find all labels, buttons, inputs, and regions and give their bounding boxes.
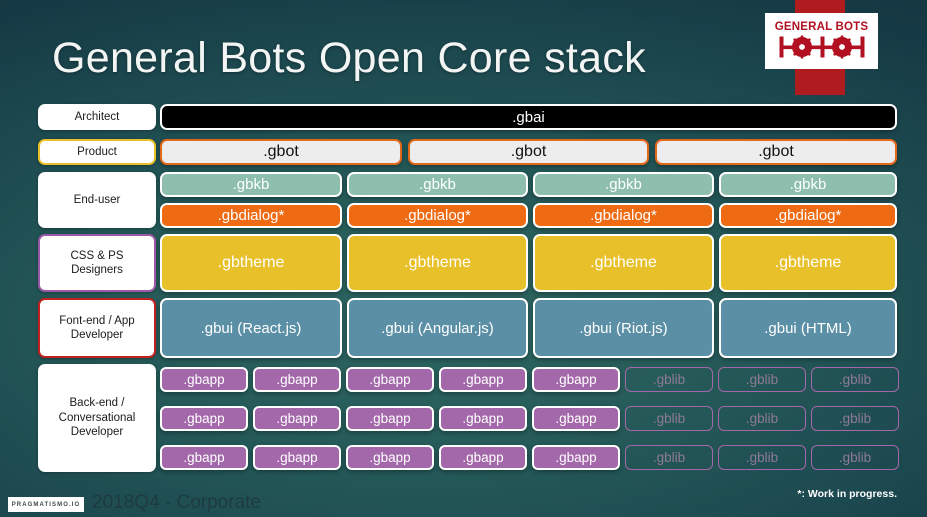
role-label-end-user: End-user bbox=[38, 172, 156, 228]
role-label-designers: CSS & PSDesigners bbox=[38, 234, 156, 292]
layer-box-gblib-r1c7[interactable]: .gblib bbox=[718, 367, 806, 392]
layer-box-gbapp-r1c1[interactable]: .gbapp bbox=[160, 367, 248, 392]
role-label-product: Product bbox=[38, 139, 156, 165]
work-in-progress-note: *: Work in progress. bbox=[797, 488, 897, 500]
pragmatismo-logo: PRAGMATISMO.IO bbox=[8, 497, 84, 512]
layer-box-gbtheme-1[interactable]: .gbtheme bbox=[160, 234, 342, 292]
layer-box-gbui-html[interactable]: .gbui (HTML) bbox=[719, 298, 897, 358]
layer-box-gbtheme-4[interactable]: .gbtheme bbox=[719, 234, 897, 292]
layer-box-gbai[interactable]: .gbai bbox=[160, 104, 897, 130]
layer-box-gbapp-r2c4[interactable]: .gbapp bbox=[439, 406, 527, 431]
layer-box-gbui-riot[interactable]: .gbui (Riot.js) bbox=[533, 298, 714, 358]
slide-canvas: General Bots Open Core stack GENERAL BOT… bbox=[0, 0, 927, 517]
layer-box-gblib-r2c8[interactable]: .gblib bbox=[811, 406, 899, 431]
layer-box-gbtheme-3[interactable]: .gbtheme bbox=[533, 234, 714, 292]
layer-box-gbapp-r1c4[interactable]: .gbapp bbox=[439, 367, 527, 392]
layer-box-gbapp-r3c3[interactable]: .gbapp bbox=[346, 445, 434, 470]
layer-box-gbtheme-2[interactable]: .gbtheme bbox=[347, 234, 528, 292]
layer-box-gbapp-r2c2[interactable]: .gbapp bbox=[253, 406, 341, 431]
general-bots-logo: GENERAL BOTS bbox=[765, 0, 880, 95]
layer-box-gbdialog-4[interactable]: .gbdialog* bbox=[719, 203, 897, 228]
page-title: General Bots Open Core stack bbox=[52, 34, 646, 83]
layer-box-gbapp-r1c5[interactable]: .gbapp bbox=[532, 367, 620, 392]
layer-box-gblib-r3c8[interactable]: .gblib bbox=[811, 445, 899, 470]
pragmatismo-wordmark: PRAGMATISMO.IO bbox=[12, 502, 81, 508]
logo-wordmark: GENERAL BOTS bbox=[775, 22, 869, 34]
layer-box-gbot-1[interactable]: .gbot bbox=[160, 139, 402, 165]
layer-box-gbdialog-1[interactable]: .gbdialog* bbox=[160, 203, 342, 228]
layer-box-gbapp-r2c3[interactable]: .gbapp bbox=[346, 406, 434, 431]
role-label-architect: Architect bbox=[38, 104, 156, 130]
footer-caption: 2018Q4 - Corporate bbox=[92, 492, 261, 514]
layer-box-gblib-r3c6[interactable]: .gblib bbox=[625, 445, 713, 470]
layer-box-gblib-r3c7[interactable]: .gblib bbox=[718, 445, 806, 470]
layer-box-gblib-r1c8[interactable]: .gblib bbox=[811, 367, 899, 392]
layer-box-gbui-react[interactable]: .gbui (React.js) bbox=[160, 298, 342, 358]
layer-box-gbui-angular[interactable]: .gbui (Angular.js) bbox=[347, 298, 528, 358]
layer-box-gbapp-r1c2[interactable]: .gbapp bbox=[253, 367, 341, 392]
layer-box-gblib-r1c6[interactable]: .gblib bbox=[625, 367, 713, 392]
layer-box-gbkb-2[interactable]: .gbkb bbox=[347, 172, 528, 197]
layer-box-gbapp-r2c1[interactable]: .gbapp bbox=[160, 406, 248, 431]
layer-box-gbot-3[interactable]: .gbot bbox=[655, 139, 897, 165]
layer-box-gbapp-r3c2[interactable]: .gbapp bbox=[253, 445, 341, 470]
layer-box-gbkb-4[interactable]: .gbkb bbox=[719, 172, 897, 197]
logo-card: GENERAL BOTS bbox=[765, 13, 878, 69]
layer-box-gbapp-r1c3[interactable]: .gbapp bbox=[346, 367, 434, 392]
layer-box-gbot-2[interactable]: .gbot bbox=[408, 139, 649, 165]
layer-box-gblib-r2c7[interactable]: .gblib bbox=[718, 406, 806, 431]
role-label-frontend: Font-end / AppDeveloper bbox=[38, 298, 156, 358]
layer-box-gbkb-3[interactable]: .gbkb bbox=[533, 172, 714, 197]
layer-box-gblib-r2c6[interactable]: .gblib bbox=[625, 406, 713, 431]
layer-box-gbdialog-3[interactable]: .gbdialog* bbox=[533, 203, 714, 228]
layer-box-gbapp-r3c1[interactable]: .gbapp bbox=[160, 445, 248, 470]
gears-icon bbox=[778, 34, 866, 60]
layer-box-gbkb-1[interactable]: .gbkb bbox=[160, 172, 342, 197]
layer-box-gbapp-r3c4[interactable]: .gbapp bbox=[439, 445, 527, 470]
layer-box-gbapp-r2c5[interactable]: .gbapp bbox=[532, 406, 620, 431]
layer-box-gbdialog-2[interactable]: .gbdialog* bbox=[347, 203, 528, 228]
role-label-backend: Back-end /ConversationalDeveloper bbox=[38, 364, 156, 472]
layer-box-gbapp-r3c5[interactable]: .gbapp bbox=[532, 445, 620, 470]
